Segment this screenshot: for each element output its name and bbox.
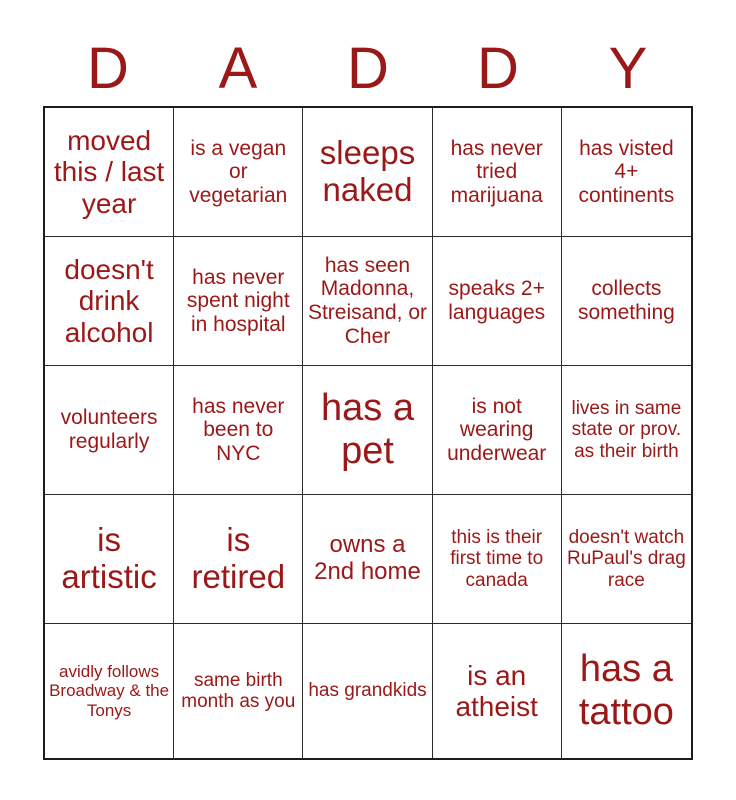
bingo-cell-r5c2[interactable]: same birth month as you: [174, 624, 303, 758]
bingo-cell-label: collects something: [566, 277, 687, 324]
bingo-cell-r5c1[interactable]: avidly follows Broadway & the Tonys: [45, 624, 174, 758]
bingo-cell-r5c5[interactable]: has a tattoo: [562, 624, 691, 758]
bingo-cell-r4c5[interactable]: doesn't watch RuPaul's drag race: [562, 495, 691, 624]
bingo-header-letters: DADDY: [43, 34, 693, 104]
bingo-cell-label: moved this / last year: [49, 125, 169, 219]
bingo-grid: moved this / last yearis a vegan or vege…: [43, 106, 693, 760]
bingo-cell-label: has never spent night in hospital: [178, 266, 298, 337]
bingo-cell-label: has visted 4+ continents: [566, 137, 687, 208]
bingo-cell-r3c3[interactable]: has a pet: [303, 366, 432, 495]
bingo-cell-label: is retired: [178, 522, 298, 596]
bingo-cell-label: has seen Madonna, Streisand, or Cher: [307, 254, 427, 348]
bingo-cell-label: avidly follows Broadway & the Tonys: [49, 662, 169, 719]
bingo-card: DADDY moved this / last yearis a vegan o…: [0, 0, 736, 800]
bingo-cell-label: owns a 2nd home: [307, 532, 427, 586]
bingo-cell-label: is a vegan or vegetarian: [178, 137, 298, 208]
bingo-cell-label: speaks 2+ languages: [437, 277, 557, 324]
bingo-cell-label: has never been to NYC: [178, 395, 298, 466]
bingo-cell-r2c2[interactable]: has never spent night in hospital: [174, 237, 303, 366]
bingo-cell-label: is not wearing underwear: [437, 395, 557, 466]
bingo-cell-label: is an atheist: [437, 660, 557, 723]
bingo-cell-label: volunteers regularly: [49, 406, 169, 453]
bingo-cell-r5c4[interactable]: is an atheist: [433, 624, 562, 758]
bingo-cell-r4c3[interactable]: owns a 2nd home: [303, 495, 432, 624]
bingo-cell-label: has a tattoo: [566, 648, 687, 733]
bingo-cell-r3c1[interactable]: volunteers regularly: [45, 366, 174, 495]
bingo-cell-r2c1[interactable]: doesn't drink alcohol: [45, 237, 174, 366]
bingo-cell-r3c2[interactable]: has never been to NYC: [174, 366, 303, 495]
bingo-header-letter-1: D: [43, 34, 173, 104]
bingo-cell-r4c4[interactable]: this is their first time to canada: [433, 495, 562, 624]
bingo-cell-label: this is their first time to canada: [437, 527, 557, 591]
bingo-cell-r2c4[interactable]: speaks 2+ languages: [433, 237, 562, 366]
bingo-cell-label: sleeps naked: [307, 135, 427, 209]
bingo-cell-r5c3[interactable]: has grandkids: [303, 624, 432, 758]
bingo-header-letter-5: Y: [563, 34, 693, 104]
bingo-cell-r2c3[interactable]: has seen Madonna, Streisand, or Cher: [303, 237, 432, 366]
bingo-cell-label: has a pet: [307, 387, 427, 472]
bingo-cell-r4c1[interactable]: is artistic: [45, 495, 174, 624]
bingo-cell-r3c5[interactable]: lives in same state or prov. as their bi…: [562, 366, 691, 495]
bingo-cell-label: doesn't watch RuPaul's drag race: [566, 527, 687, 591]
bingo-cell-r1c4[interactable]: has never tried marijuana: [433, 108, 562, 237]
bingo-cell-r1c2[interactable]: is a vegan or vegetarian: [174, 108, 303, 237]
bingo-cell-label: same birth month as you: [178, 670, 298, 713]
bingo-cell-r4c2[interactable]: is retired: [174, 495, 303, 624]
bingo-cell-r1c1[interactable]: moved this / last year: [45, 108, 174, 237]
bingo-cell-r1c5[interactable]: has visted 4+ continents: [562, 108, 691, 237]
bingo-header-letter-2: A: [173, 34, 303, 104]
bingo-cell-r1c3[interactable]: sleeps naked: [303, 108, 432, 237]
bingo-cell-r2c5[interactable]: collects something: [562, 237, 691, 366]
bingo-cell-label: is artistic: [49, 522, 169, 596]
bingo-cell-label: has grandkids: [307, 680, 427, 701]
bingo-cell-label: lives in same state or prov. as their bi…: [566, 398, 687, 462]
bingo-cell-label: has never tried marijuana: [437, 137, 557, 208]
bingo-header-letter-3: D: [303, 34, 433, 104]
bingo-cell-r3c4[interactable]: is not wearing underwear: [433, 366, 562, 495]
bingo-header-letter-4: D: [433, 34, 563, 104]
bingo-cell-label: doesn't drink alcohol: [49, 254, 169, 348]
